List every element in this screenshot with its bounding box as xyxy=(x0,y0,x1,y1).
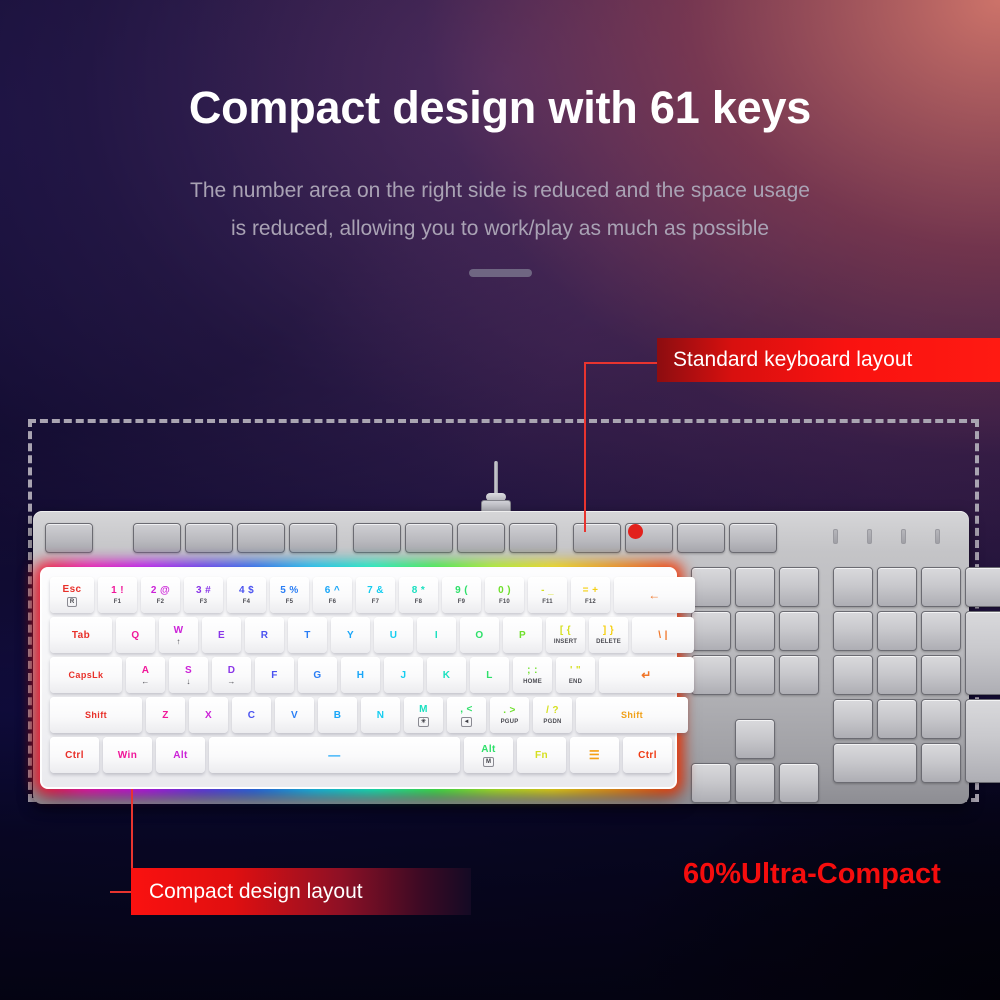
numpad-key xyxy=(833,567,873,607)
key-primary-label: 7 & xyxy=(367,585,384,596)
key-↵[interactable]: ↵ xyxy=(599,657,694,693)
compact-leader-horizontal xyxy=(110,891,133,893)
key-a[interactable]: A← xyxy=(126,657,165,693)
key-secondary-label: F4 xyxy=(243,598,250,606)
fullkb-key xyxy=(353,523,401,553)
fullkb-key xyxy=(45,523,93,553)
key-primary-label: J xyxy=(401,670,407,681)
key-primary-label: H xyxy=(357,670,365,681)
key-primary-label: 6 ^ xyxy=(325,585,340,596)
key-=+[interactable]: = +F12 xyxy=(571,577,610,613)
key-\|[interactable]: \ | xyxy=(632,617,694,653)
key-secondary-label: END xyxy=(569,678,582,686)
key-capslk[interactable]: CapsLk xyxy=(50,657,122,693)
numpad-key xyxy=(877,567,917,607)
key-shift[interactable]: Shift xyxy=(50,697,142,733)
key-—[interactable]: — xyxy=(209,737,460,773)
key-k[interactable]: K xyxy=(427,657,466,693)
key-secondary-label: F12 xyxy=(585,598,596,606)
numpad-key xyxy=(877,699,917,739)
key-alt[interactable]: Alt xyxy=(156,737,205,773)
key-/?[interactable]: / ?PGDN xyxy=(533,697,572,733)
standard-layout-marker-dot xyxy=(628,524,643,539)
key-secondary-label: F6 xyxy=(329,598,336,606)
key-primary-label: 9 ( xyxy=(455,585,468,596)
key-primary-label: V xyxy=(291,710,298,721)
key-primary-label: G xyxy=(313,670,321,681)
key-primary-label: , < xyxy=(460,704,473,715)
numpad-key xyxy=(921,699,961,739)
lock-led-indicator xyxy=(935,529,940,544)
key-;:[interactable]: ; :HOME xyxy=(513,657,552,693)
key-alt[interactable]: AltM xyxy=(464,737,513,773)
key-primary-label: C xyxy=(248,710,256,721)
key-primary-label: O xyxy=(475,630,483,641)
key-primary-label: Tab xyxy=(72,630,90,641)
key-primary-label: ← xyxy=(648,589,660,602)
key-n[interactable]: N xyxy=(361,697,400,733)
key-l[interactable]: L xyxy=(470,657,509,693)
fullkb-key xyxy=(133,523,181,553)
key-primary-label: ; : xyxy=(527,665,538,676)
fullkb-key xyxy=(457,523,505,553)
key-secondary-label: F9 xyxy=(458,598,465,606)
key-shift[interactable]: Shift xyxy=(576,697,688,733)
keycap-area: EscR1 !F12 @F23 #F34 $F45 %F56 ^F67 &F78… xyxy=(40,567,677,789)
key-x[interactable]: X xyxy=(189,697,228,733)
key-primary-label: 5 % xyxy=(280,585,298,596)
key-ctrl[interactable]: Ctrl xyxy=(50,737,99,773)
keyboard-row-1: TabQW↑ERTYUIOP[ {INSERT] }DELETE\ | xyxy=(50,617,694,653)
key-0)[interactable]: 0 )F10 xyxy=(485,577,524,613)
key-secondary-label: M xyxy=(483,757,494,767)
key-secondary-label: F10 xyxy=(499,598,510,606)
standard-leader-horizontal xyxy=(584,362,659,364)
key-secondary-label: F1 xyxy=(114,598,121,606)
key-primary-label: B xyxy=(334,710,342,721)
standard-layout-badge: Standard keyboard layout xyxy=(657,338,1000,382)
key-primary-label: 1 ! xyxy=(111,585,124,596)
key-primary-label: 0 ) xyxy=(498,585,511,596)
key-primary-label: \ | xyxy=(658,630,668,641)
key-e[interactable]: E xyxy=(202,617,241,653)
product-banner: Compact design with 61 keys The number a… xyxy=(0,0,1000,1000)
key-←[interactable]: ← xyxy=(614,577,695,613)
numpad-key xyxy=(877,611,917,651)
key-primary-label: K xyxy=(443,670,451,681)
key-primary-label: X xyxy=(205,710,212,721)
key-primary-label: D xyxy=(228,665,236,676)
key--_[interactable]: - _F11 xyxy=(528,577,567,613)
numpad-zero-key xyxy=(833,743,917,783)
key-esc[interactable]: EscR xyxy=(50,577,94,613)
arrow-down-key xyxy=(735,763,775,803)
key-m[interactable]: M☀ xyxy=(404,697,443,733)
key-[{[interactable]: [ {INSERT xyxy=(546,617,585,653)
key-ctrl[interactable]: Ctrl xyxy=(623,737,672,773)
key-primary-label: [ { xyxy=(560,625,571,636)
numpad-key xyxy=(833,655,873,695)
keyboard-row-0: EscR1 !F12 @F23 #F34 $F45 %F56 ^F67 &F78… xyxy=(50,577,695,613)
fullkb-key xyxy=(405,523,453,553)
key-primary-label: Y xyxy=(347,630,354,641)
standard-layout-badge-label: Standard keyboard layout xyxy=(673,348,912,372)
key-9([interactable]: 9 (F9 xyxy=(442,577,481,613)
key-i[interactable]: I xyxy=(417,617,456,653)
key-h[interactable]: H xyxy=(341,657,380,693)
key-8*[interactable]: 8 *F8 xyxy=(399,577,438,613)
key-primary-label: M xyxy=(419,704,428,715)
arrow-right-key xyxy=(779,763,819,803)
fullkb-key xyxy=(237,523,285,553)
key-secondary-label: ☀ xyxy=(418,717,429,727)
key-s[interactable]: S↓ xyxy=(169,657,208,693)
key-b[interactable]: B xyxy=(318,697,357,733)
key-primary-label: ↵ xyxy=(641,669,651,682)
keyboard-row-4: CtrlWinAlt—AltMFn☰Ctrl xyxy=(50,737,672,773)
key-primary-label: ☰ xyxy=(589,749,600,762)
fullkb-key xyxy=(729,523,777,553)
key-primary-label: R xyxy=(261,630,269,641)
key-tab[interactable]: Tab xyxy=(50,617,112,653)
key-w[interactable]: W↑ xyxy=(159,617,198,653)
key-4$[interactable]: 4 $F4 xyxy=(227,577,266,613)
fullkb-key xyxy=(573,523,621,553)
key-primary-label: CapsLk xyxy=(69,670,104,681)
fullkb-key xyxy=(735,611,775,651)
key-u[interactable]: U xyxy=(374,617,413,653)
key-secondary-label: PGUP xyxy=(501,718,519,726)
key-secondary-label: F2 xyxy=(157,598,164,606)
key-'"[interactable]: ' "END xyxy=(556,657,595,693)
lock-led-indicator xyxy=(901,529,906,544)
key-secondary-label: HOME xyxy=(523,678,542,686)
numpad-key xyxy=(833,699,873,739)
key-primary-label: 3 # xyxy=(196,585,211,596)
key-secondary-label: F5 xyxy=(286,598,293,606)
fullkb-key xyxy=(691,655,731,695)
key-r[interactable]: R xyxy=(245,617,284,653)
key-q[interactable]: Q xyxy=(116,617,155,653)
fullkb-key xyxy=(779,611,819,651)
key-primary-label: P xyxy=(519,630,526,641)
key-primary-label: Win xyxy=(118,750,137,761)
key-primary-label: Shift xyxy=(621,710,643,721)
subtitle-line-1: The number area on the right side is red… xyxy=(0,173,1000,209)
page-title: Compact design with 61 keys xyxy=(0,82,1000,134)
key-p[interactable]: P xyxy=(503,617,542,653)
numpad-key xyxy=(921,743,961,783)
key-]}[interactable]: ] }DELETE xyxy=(589,617,628,653)
key-primary-label: Alt xyxy=(481,744,496,755)
fullkb-key xyxy=(735,655,775,695)
key-secondary-label: → xyxy=(227,678,235,686)
key-primary-label: Q xyxy=(131,630,139,641)
key-secondary-label: F11 xyxy=(542,598,553,606)
keyboard-row-2: CapsLkA←S↓D→FGHJKL; :HOME' "END↵ xyxy=(50,657,694,693)
key-primary-label: W xyxy=(174,625,184,636)
key-primary-label: S xyxy=(185,665,192,676)
key-c[interactable]: C xyxy=(232,697,271,733)
key-primary-label: ] } xyxy=(603,625,614,636)
key-secondary-label: ◄ xyxy=(461,717,473,727)
key-primary-label: I xyxy=(435,630,438,641)
key-v[interactable]: V xyxy=(275,697,314,733)
key-primary-label: 2 @ xyxy=(151,585,170,596)
compact-layout-badge-label: Compact design layout xyxy=(149,880,363,904)
compact-layout-badge: Compact design layout xyxy=(131,868,471,915)
key-1![interactable]: 1 !F1 xyxy=(98,577,137,613)
key-fn[interactable]: Fn xyxy=(517,737,566,773)
key-secondary-label: ↑ xyxy=(176,638,180,646)
key-☰[interactable]: ☰ xyxy=(570,737,619,773)
key-primary-label: — xyxy=(328,749,340,762)
numpad-key xyxy=(921,567,961,607)
key-j[interactable]: J xyxy=(384,657,423,693)
key-secondary-label: F3 xyxy=(200,598,207,606)
key-primary-label: Fn xyxy=(535,750,548,761)
key-primary-label: T xyxy=(304,630,311,641)
key-2@[interactable]: 2 @F2 xyxy=(141,577,180,613)
arrow-up-key xyxy=(735,719,775,759)
lock-led-indicator xyxy=(833,529,838,544)
key-primary-label: - _ xyxy=(541,585,554,596)
key-primary-label: E xyxy=(218,630,225,641)
key-g[interactable]: G xyxy=(298,657,337,693)
key-primary-label: L xyxy=(486,670,493,681)
fullkb-key xyxy=(691,611,731,651)
key-primary-label: Esc xyxy=(63,584,82,595)
key-primary-label: 4 $ xyxy=(239,585,254,596)
key-7&[interactable]: 7 &F7 xyxy=(356,577,395,613)
key-primary-label: ' " xyxy=(570,665,581,676)
key-primary-label: = + xyxy=(583,585,599,596)
keyboard-row-3: ShiftZXCVBNM☀, <◄. >PGUP/ ?PGDNShift xyxy=(50,697,688,733)
standard-leader-vertical xyxy=(584,362,586,532)
key-secondary-label: PGDN xyxy=(543,718,561,726)
key-primary-label: Ctrl xyxy=(638,750,657,761)
key-3#[interactable]: 3 #F3 xyxy=(184,577,223,613)
key-primary-label: Alt xyxy=(173,750,188,761)
numpad-key xyxy=(921,611,961,651)
fullkb-key xyxy=(735,567,775,607)
key-.>[interactable]: . >PGUP xyxy=(490,697,529,733)
lock-led-indicator xyxy=(867,529,872,544)
key-secondary-label: F8 xyxy=(415,598,422,606)
key-primary-label: Shift xyxy=(85,710,107,721)
key-t[interactable]: T xyxy=(288,617,327,653)
key-win[interactable]: Win xyxy=(103,737,152,773)
numpad-key xyxy=(833,611,873,651)
numpad-plus-key xyxy=(965,611,1000,695)
fullkb-key xyxy=(677,523,725,553)
fullkb-key xyxy=(289,523,337,553)
key-f[interactable]: F xyxy=(255,657,294,693)
key-z[interactable]: Z xyxy=(146,697,185,733)
compact-61-key-keyboard: EscR1 !F12 @F23 #F34 $F45 %F56 ^F67 &F78… xyxy=(40,567,677,789)
fullkb-key xyxy=(779,655,819,695)
fullkb-key xyxy=(691,567,731,607)
key-primary-label: . > xyxy=(503,705,516,716)
key-primary-label: F xyxy=(271,670,278,681)
key-secondary-label: ← xyxy=(141,678,149,686)
subtitle-line-2: is reduced, allowing you to work/play as… xyxy=(0,211,1000,247)
key-secondary-label: R xyxy=(67,597,77,607)
key-6^[interactable]: 6 ^F6 xyxy=(313,577,352,613)
arrow-left-key xyxy=(691,763,731,803)
key-primary-label: Ctrl xyxy=(65,750,84,761)
key-5%[interactable]: 5 %F5 xyxy=(270,577,309,613)
key-secondary-label: F7 xyxy=(372,598,379,606)
numpad-key xyxy=(877,655,917,695)
key-d[interactable]: D→ xyxy=(212,657,251,693)
key-o[interactable]: O xyxy=(460,617,499,653)
numpad-key xyxy=(965,567,1000,607)
key-primary-label: 8 * xyxy=(412,585,425,596)
fullkb-key xyxy=(779,567,819,607)
key-y[interactable]: Y xyxy=(331,617,370,653)
key-primary-label: / ? xyxy=(546,705,559,716)
numpad-key xyxy=(921,655,961,695)
key-secondary-label: INSERT xyxy=(554,638,577,646)
key-primary-label: Z xyxy=(162,710,169,721)
section-divider xyxy=(469,269,532,277)
key-primary-label: U xyxy=(390,630,398,641)
fullkb-key xyxy=(185,523,233,553)
key-primary-label: A xyxy=(142,665,150,676)
fullkb-key xyxy=(509,523,557,553)
key-,<[interactable]: , <◄ xyxy=(447,697,486,733)
ultra-compact-label: 60%Ultra-Compact xyxy=(683,858,941,891)
key-secondary-label: ↓ xyxy=(186,678,190,686)
key-primary-label: N xyxy=(377,710,385,721)
key-secondary-label: DELETE xyxy=(596,638,621,646)
numpad-enter-key xyxy=(965,699,1000,783)
